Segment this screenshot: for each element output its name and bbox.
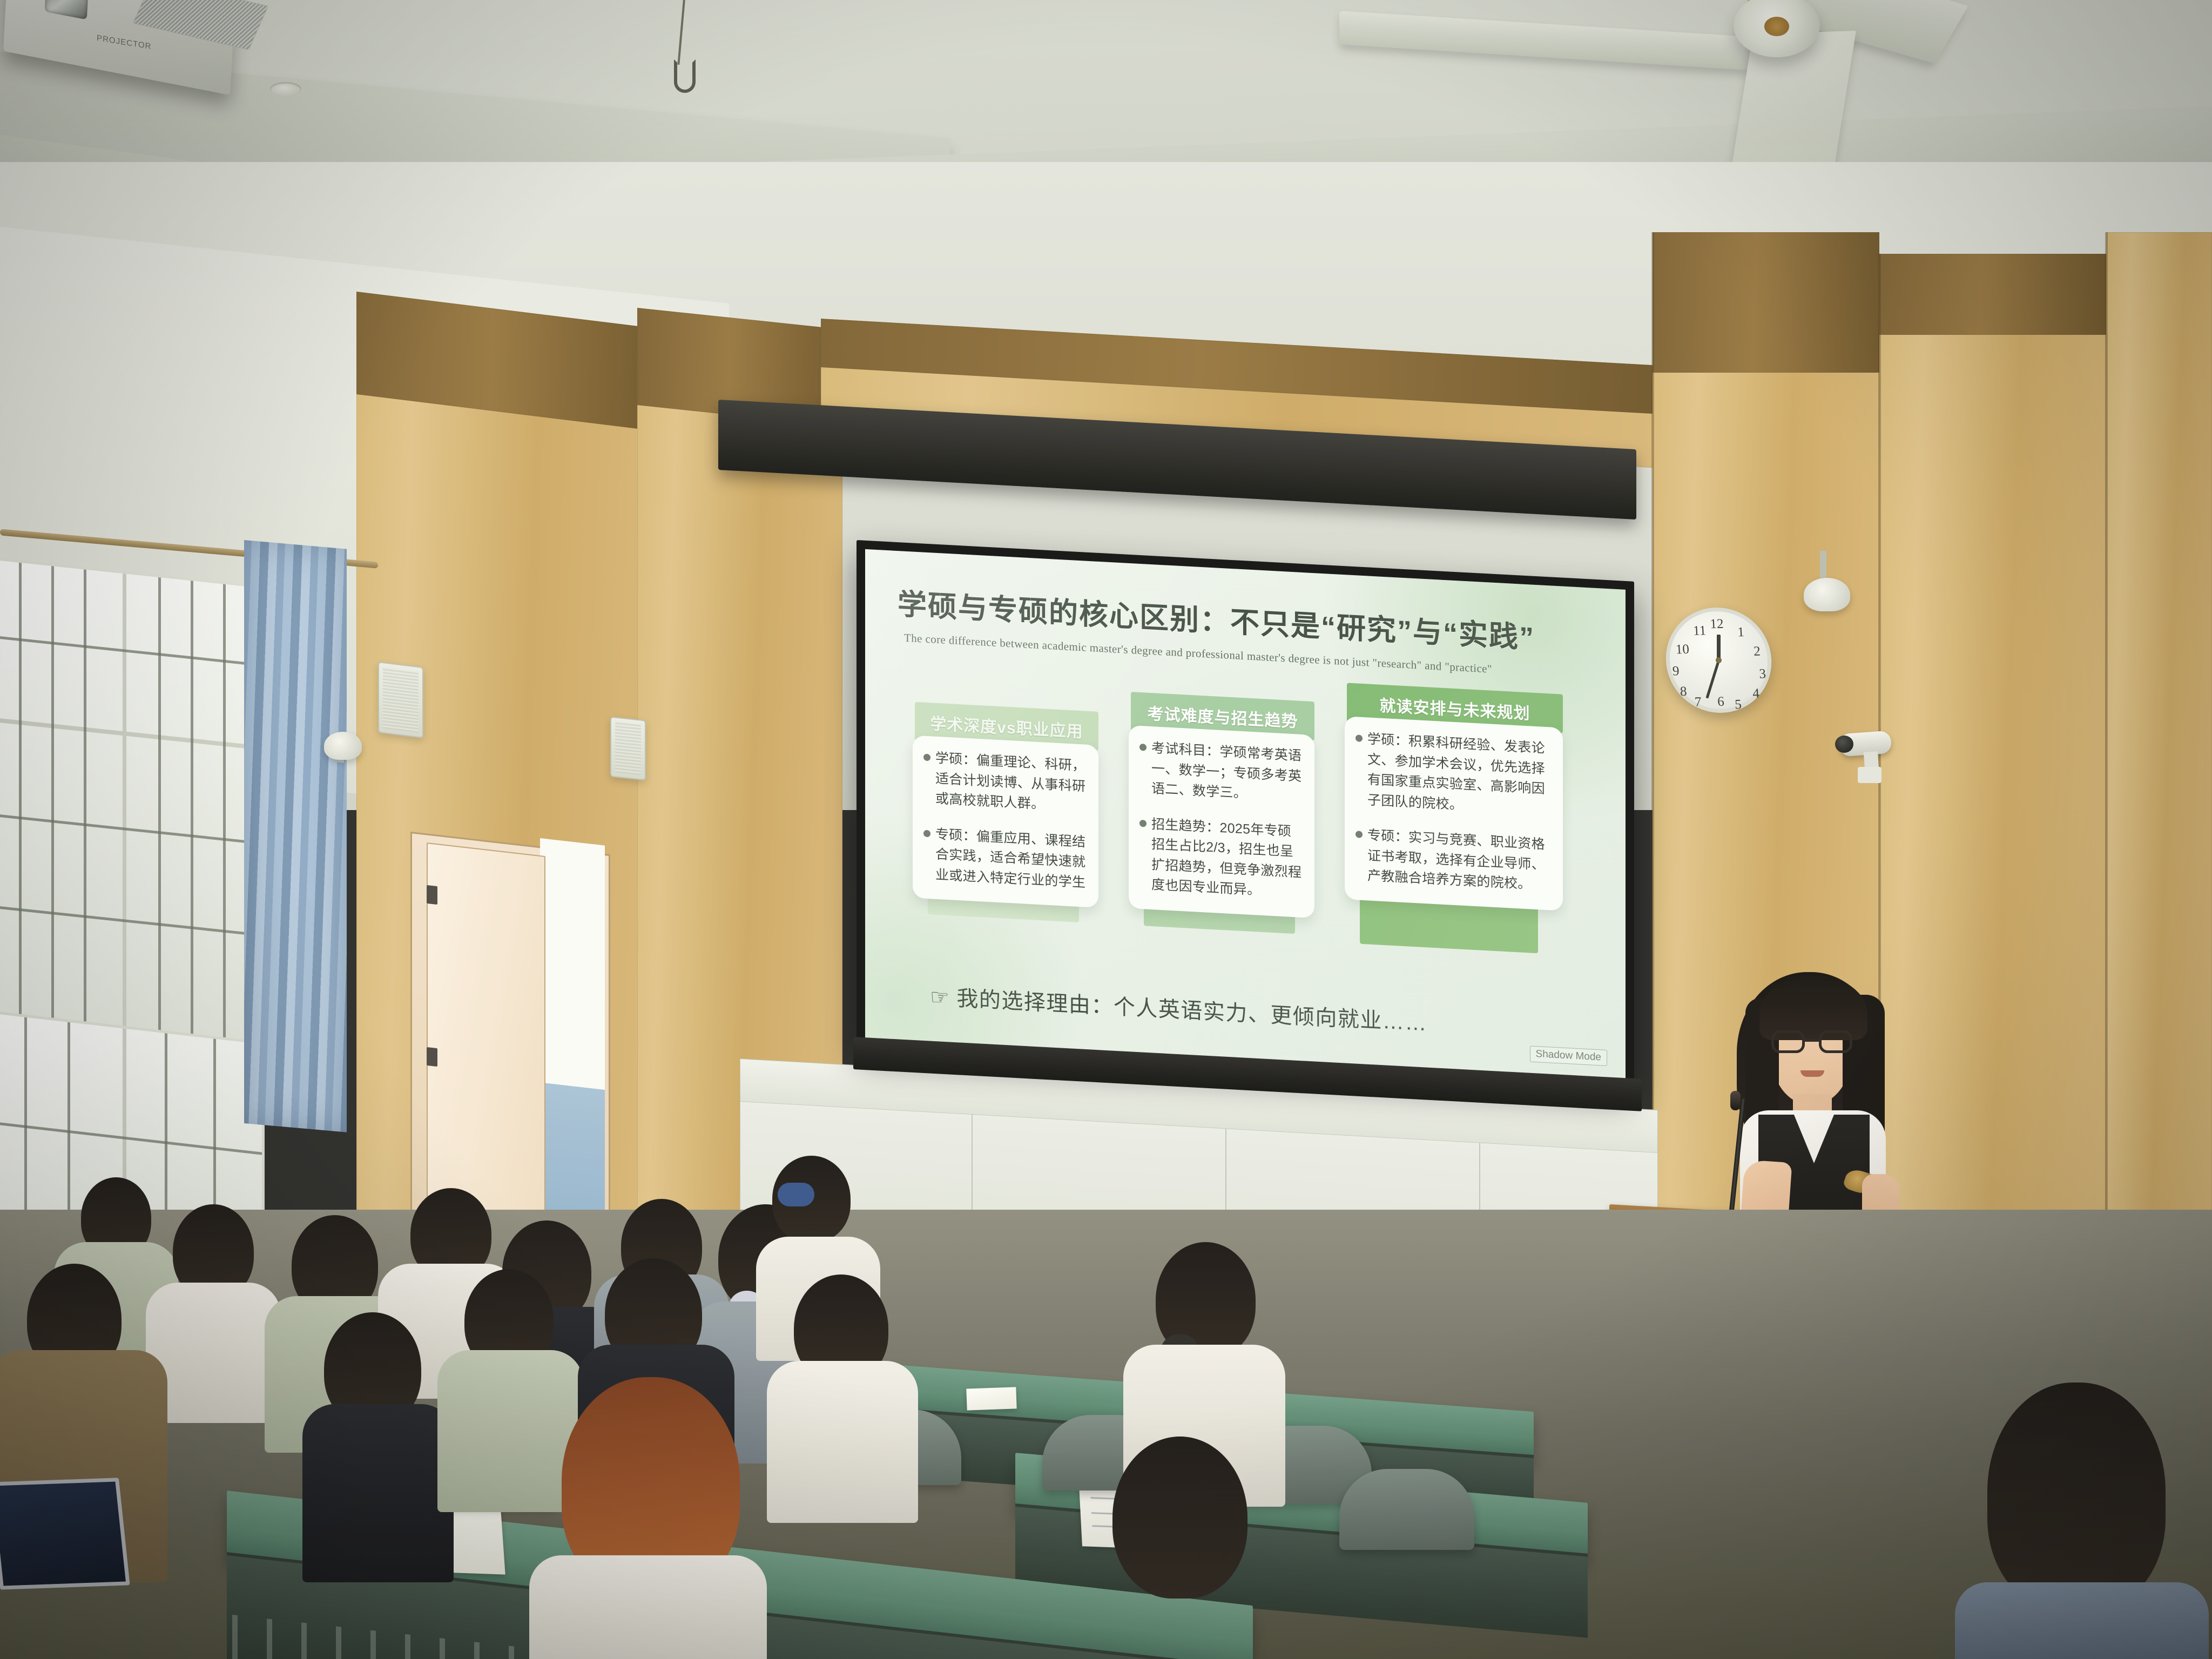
clock-number: 5 xyxy=(1735,697,1742,712)
wall-speaker xyxy=(378,662,423,738)
clock-number: 9 xyxy=(1672,664,1680,679)
bullet-text: 专硕：偏重应用、课程结合实践，适合希望快速就业或进入特定行业的学生 xyxy=(935,824,1088,893)
bullet-text: 学硕：偏重理论、科研，适合计划读博、从事科研或高校就职人群。 xyxy=(935,748,1088,818)
clock-minute-hand xyxy=(1705,660,1719,699)
window-mullion xyxy=(123,574,126,1033)
microphone-head-icon xyxy=(1730,1091,1741,1110)
ceiling-hook-icon xyxy=(674,59,696,93)
clock-number: 8 xyxy=(1680,684,1687,699)
bullet-text: 学硕：积累科研经验、发表论文、参加学术会议，优先选择有国家重点实验室、高影响因子… xyxy=(1367,729,1552,820)
bullet-item: 考试科目：学硕常考英语一、数学一；专硕多考英语二、数学三。 xyxy=(1139,738,1304,807)
chair-back[interactable] xyxy=(1339,1469,1474,1550)
wall-speaker xyxy=(610,717,646,781)
bullet-item: 专硕：偏重应用、课程结合实践，适合希望快速就业或进入特定行业的学生 xyxy=(923,824,1088,893)
audience-body xyxy=(767,1361,918,1523)
small-paper[interactable] xyxy=(966,1387,1016,1410)
window-grille-bar xyxy=(191,581,193,1040)
window-left xyxy=(0,556,265,1050)
presenter-mouth xyxy=(1800,1070,1824,1077)
clock-number: 6 xyxy=(1717,694,1725,710)
clock-number: 3 xyxy=(1759,666,1766,682)
audience-body-foreground xyxy=(529,1555,767,1659)
column-card-2: 考试科目：学硕常考英语一、数学一；专硕多考英语二、数学三。 招生趋势：2025年… xyxy=(1129,725,1314,918)
bullet-dot-icon xyxy=(1355,734,1363,742)
pointing-hand-icon: ☞ xyxy=(930,985,950,1010)
clock-number: 12 xyxy=(1710,617,1724,632)
audience-head-foreground xyxy=(1112,1437,1247,1599)
camera-wall-plate xyxy=(1858,767,1881,783)
downlight-icon xyxy=(270,82,301,96)
clock-number: 2 xyxy=(1754,644,1761,659)
projection-screen: 学硕与专硕的核心区别：不只是“研究”与“实践” The core differe… xyxy=(857,540,1634,1089)
clock-center-pin xyxy=(1716,657,1722,663)
clock-number: 1 xyxy=(1737,625,1745,640)
bullet-item: 招生趋势：2025年专硕招生占比2/3，招生也呈扩招趋势，但竞争激烈程度也因专业… xyxy=(1139,813,1304,903)
wood-wall-trim-far-right xyxy=(1879,254,2106,335)
bullet-item: 学硕：积累科研经验、发表论文、参加学术会议，优先选择有国家重点实验室、高影响因子… xyxy=(1355,729,1552,820)
audience-body xyxy=(302,1404,454,1582)
classroom-photo: PROJECTOR xyxy=(0,0,2212,1659)
column-card-1: 学硕：偏重理论、科研，适合计划读博、从事科研或高校就职人群。 专硕：偏重应用、课… xyxy=(913,736,1098,908)
window-grille-bar xyxy=(158,577,161,1037)
bullet-text: 考试科目：学硕常考英语一、数学一；专硕多考英语二、数学三。 xyxy=(1151,738,1304,807)
slide-watermark: Shadow Mode xyxy=(1530,1046,1607,1066)
clock-hour-hand xyxy=(1717,634,1721,660)
hair-scrunchie-blue xyxy=(778,1183,814,1206)
bullet-text: 招生趋势：2025年专硕招生占比2/3，招生也呈扩招趋势，但竞争激烈程度也因专业… xyxy=(1151,814,1304,903)
audience-body-foreground xyxy=(1955,1582,2209,1659)
laptop-screen[interactable] xyxy=(0,1478,130,1589)
window-curtain[interactable] xyxy=(244,540,347,1132)
slide-column-1: 学术深度vs职业应用 学硕：偏重理论、科研，适合计划读博、从事科研或高校就职人群… xyxy=(915,660,1098,908)
bullet-dot-icon xyxy=(923,829,930,837)
clock-number: 7 xyxy=(1694,695,1702,710)
clock-number: 4 xyxy=(1752,686,1760,702)
corridor-view xyxy=(540,838,605,1267)
slide-columns: 学术深度vs职业应用 学硕：偏重理论、科研，适合计划读博、从事科研或高校就职人群… xyxy=(893,659,1611,1000)
column-card-3: 学硕：积累科研经验、发表论文、参加学术会议，优先选择有国家重点实验室、高影响因子… xyxy=(1345,716,1563,911)
bullet-item: 专硕：实习与竞赛、职业资格证书考取，选择有企业导师、产教融合培养方案的院校。 xyxy=(1355,825,1552,896)
window-grille-bar xyxy=(223,584,226,1044)
panel-seam xyxy=(2105,232,2108,1366)
window-grille-bar xyxy=(51,566,54,1026)
door-hinge xyxy=(427,885,437,905)
bullet-item: 学硕：偏重理论、科研，适合计划读博、从事科研或高校就职人群。 xyxy=(923,748,1088,818)
audience-head-foreground xyxy=(1987,1382,2166,1609)
window-grille-bar xyxy=(84,569,86,1029)
clock-number: 11 xyxy=(1692,623,1707,638)
clock-number: 10 xyxy=(1675,642,1689,657)
projector-lens-icon xyxy=(45,0,88,19)
bullet-text: 专硕：实习与竞赛、职业资格证书考取，选择有企业导师、产教融合培养方案的院校。 xyxy=(1367,825,1552,896)
bullet-dot-icon xyxy=(1139,819,1147,827)
wood-wall-trim-right xyxy=(1653,232,1879,373)
bullet-dot-icon xyxy=(1355,831,1363,838)
wall-lamp xyxy=(1804,578,1850,611)
slide-footer-text: 我的选择理由：个人英语实力、更倾向就业…… xyxy=(956,987,1427,1035)
door-hinge xyxy=(427,1047,437,1067)
slide-column-2: 考试难度与招生趋势 考试科目：学硕常考英语一、数学一；专硕多考英语二、数学三。 … xyxy=(1131,671,1314,918)
slide-column-3: 就读安排与未来规划 学硕：积累科研经验、发表论文、参加学术会议，优先选择有国家重… xyxy=(1347,683,1563,911)
window-grille-bar xyxy=(19,563,22,1022)
projector-brand-label: PROJECTOR xyxy=(97,33,152,51)
wall-lamp xyxy=(324,732,362,760)
wood-wall-panel-edge xyxy=(2106,232,2212,1366)
presentation-slide: 学硕与专硕的核心区别：不只是“研究”与“实践” The core differe… xyxy=(865,549,1626,1080)
bullet-dot-icon xyxy=(1139,744,1147,751)
bullet-dot-icon xyxy=(923,754,930,761)
camera-lens-icon xyxy=(1835,736,1853,753)
presenter-glasses-icon xyxy=(1771,1030,1852,1053)
